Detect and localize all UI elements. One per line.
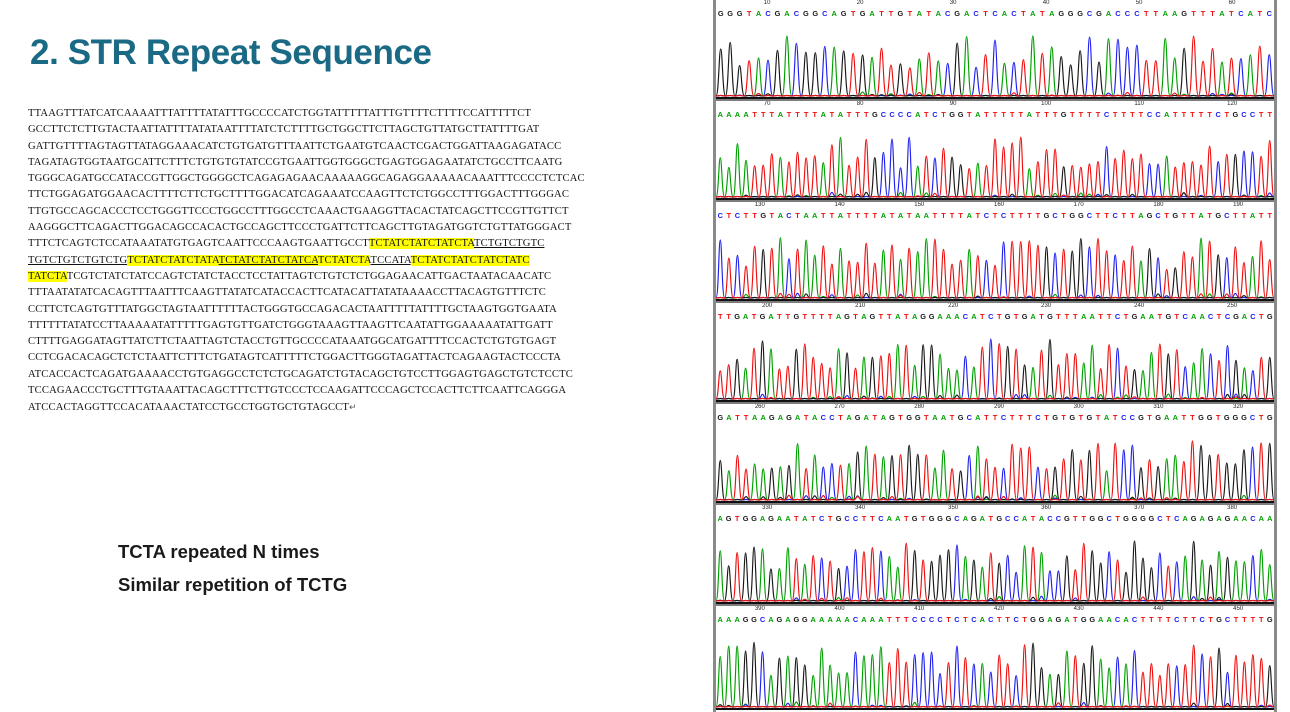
base-call: C: [1047, 514, 1052, 523]
chromatogram-base-calls: AGTGGAGAATATCTGCCTTCAATGTGGGCAGATGCCATAC…: [716, 514, 1274, 525]
trace-channel-A: [716, 646, 1274, 707]
base-call: T: [1031, 514, 1036, 523]
chromatogram-baseline-bar: [716, 198, 1274, 200]
chromatogram-trace: [716, 121, 1274, 200]
chromatogram-tick-strip: 708090100110120: [716, 101, 1274, 110]
base-call: T: [811, 312, 816, 321]
chromatogram-tick-strip: 390400410420430440450: [716, 606, 1274, 615]
base-call: T: [1259, 312, 1264, 321]
chromatogram-row-3: 130140150160170180190CTCTTGTACTAATTATTTT…: [716, 202, 1274, 303]
base-call: G: [1069, 413, 1075, 422]
base-call: A: [1140, 312, 1145, 321]
base-call: C: [1155, 211, 1160, 220]
base-call: T: [1044, 413, 1049, 422]
chromatogram-baseline-bar: [716, 501, 1274, 503]
base-call: T: [1122, 110, 1127, 119]
base-call: T: [862, 514, 867, 523]
sequence-line: CCTTCTCAGTGTTTATGGCTAGTAATTTTTTACTGGGTGC…: [28, 302, 648, 318]
tick-label: 210: [855, 303, 865, 309]
base-call: T: [761, 110, 766, 119]
base-call: T: [795, 110, 800, 119]
base-call: G: [1155, 413, 1161, 422]
base-call: C: [1121, 413, 1126, 422]
base-call: G: [1058, 9, 1064, 18]
base-call: G: [786, 413, 792, 422]
base-call: G: [1123, 514, 1129, 523]
base-call: G: [718, 9, 724, 18]
base-call: G: [751, 615, 757, 624]
sequence-line: TTAAGTTTATCATCAAAATTTATTTTATATTTGCCCCATC…: [28, 106, 648, 122]
base-call: T: [924, 110, 929, 119]
base-call: C: [912, 615, 917, 624]
base-call: C: [1238, 9, 1243, 18]
base-call: C: [1225, 312, 1230, 321]
tick-label: 410: [914, 606, 924, 612]
base-call: T: [1096, 110, 1101, 119]
base-call: T: [879, 312, 884, 321]
base-call: T: [1027, 413, 1032, 422]
base-call: A: [836, 312, 841, 321]
base-call: T: [735, 413, 740, 422]
sequence-highlight-segment: TCTATCTATCTATCTATC: [411, 255, 530, 266]
chromatogram-base-calls: TTGATGATTGTTTTAGTAGTTATAGGAAACATCTGTGATG…: [716, 312, 1274, 323]
base-call: C: [954, 514, 959, 523]
base-call: G: [1022, 312, 1028, 321]
base-call: T: [1107, 312, 1112, 321]
base-call: A: [1164, 413, 1169, 422]
base-call: T: [786, 312, 791, 321]
base-call: T: [1096, 211, 1101, 220]
base-call: T: [811, 514, 816, 523]
base-call: T: [1175, 312, 1180, 321]
base-call: A: [898, 211, 903, 220]
base-call: G: [1098, 514, 1104, 523]
base-call: A: [861, 615, 866, 624]
base-call: A: [1242, 312, 1247, 321]
sequence-segment: TCTGTCTGTC: [474, 238, 544, 249]
base-call: T: [787, 110, 792, 119]
base-call: G: [860, 9, 866, 18]
base-call: T: [1199, 110, 1204, 119]
base-call: A: [784, 9, 789, 18]
base-call: A: [912, 312, 917, 321]
base-call: C: [1087, 9, 1092, 18]
base-call: A: [878, 615, 883, 624]
base-call: T: [1147, 413, 1152, 422]
base-call: T: [1082, 514, 1087, 523]
base-call: G: [841, 9, 847, 18]
chromatogram-baseline-bar: [716, 602, 1274, 604]
base-call: T: [1242, 211, 1247, 220]
base-call: T: [794, 514, 799, 523]
base-call: C: [1035, 413, 1040, 422]
base-call: A: [1106, 615, 1111, 624]
base-call: T: [1079, 110, 1084, 119]
base-call: A: [778, 211, 783, 220]
base-call: T: [921, 514, 926, 523]
base-call: T: [747, 9, 752, 18]
base-call: T: [855, 211, 860, 220]
base-call: G: [1068, 9, 1074, 18]
base-call: G: [889, 413, 895, 422]
base-call: G: [775, 9, 781, 18]
trace-channel-C: [716, 646, 1274, 707]
base-call: G: [1138, 413, 1144, 422]
base-call: T: [864, 211, 869, 220]
trace-channel-T: [716, 543, 1274, 601]
sequence-line: TGTCTGTCTGTCTGTCTATCTATCTATATCTATCTATCTA…: [28, 253, 648, 269]
base-call: A: [1104, 413, 1109, 422]
tick-label: 60: [1229, 0, 1236, 6]
base-call: T: [770, 211, 775, 220]
base-call: G: [912, 514, 918, 523]
base-call: A: [1242, 514, 1247, 523]
base-call: A: [1138, 211, 1143, 220]
base-call: T: [989, 514, 994, 523]
base-call: A: [768, 312, 773, 321]
base-call: A: [734, 615, 739, 624]
base-call: G: [1052, 413, 1058, 422]
base-call: T: [1079, 413, 1084, 422]
base-call: G: [1132, 514, 1138, 523]
base-call: C: [1052, 211, 1057, 220]
base-call: A: [1047, 615, 1052, 624]
base-call: T: [864, 110, 869, 119]
base-call: A: [838, 211, 843, 220]
trace-channel-T: [716, 344, 1274, 399]
base-call: A: [735, 110, 740, 119]
caption-line-2: Similar repetition of TCTG: [118, 568, 347, 601]
base-call: G: [1147, 211, 1153, 220]
base-call: T: [830, 211, 835, 220]
base-call: G: [906, 413, 912, 422]
base-call: A: [1172, 9, 1177, 18]
base-call: C: [1104, 110, 1109, 119]
base-call: C: [1087, 211, 1092, 220]
base-call: T: [993, 211, 998, 220]
base-call: G: [1044, 211, 1050, 220]
base-call: C: [1199, 615, 1204, 624]
sequence-segment: TGGGCAGATGCCATACCGTTGGCTGGGGCTCAGAGAGAAC…: [28, 173, 585, 184]
base-call: T: [1073, 514, 1078, 523]
tick-label: 360: [1041, 505, 1051, 511]
trace-channel-T: [716, 645, 1274, 707]
base-call: A: [1030, 312, 1035, 321]
base-call: G: [1191, 514, 1197, 523]
base-call: C: [819, 514, 824, 523]
base-call: G: [971, 514, 977, 523]
base-call: A: [941, 413, 946, 422]
base-call: G: [777, 615, 783, 624]
base-call: T: [941, 211, 946, 220]
base-call: A: [869, 9, 874, 18]
sequence-segment: TTTCTCAGTCTCCATAAATATGTGAGTCAATTCCCAAGTG…: [28, 238, 369, 249]
base-call: T: [1182, 211, 1187, 220]
sequence-highlight-segment: TCTATCTA: [318, 255, 371, 266]
base-call: A: [1163, 9, 1168, 18]
base-call: A: [1219, 9, 1224, 18]
base-call: T: [1182, 110, 1187, 119]
sequence-segment: ATCCACTAGGTTCCACATAAACTATCCTGCCTGGTGCTGT…: [28, 402, 349, 413]
base-call: T: [1056, 312, 1061, 321]
tick-label: 270: [835, 404, 845, 410]
base-call: T: [1182, 413, 1187, 422]
trace-channel-T: [716, 238, 1274, 298]
trace-channel-C: [716, 339, 1274, 399]
base-call: T: [1130, 211, 1135, 220]
base-call: T: [1005, 615, 1010, 624]
base-call: A: [1022, 514, 1027, 523]
base-call: G: [803, 9, 809, 18]
sequence-line: TATCTATCGTCTATCTATCCAGTCTATCTACCTCCTATTA…: [28, 269, 648, 285]
base-call: A: [1027, 110, 1032, 119]
base-call: A: [777, 514, 782, 523]
sequence-highlight-segment: TCTATCTATCTATA: [127, 255, 218, 266]
base-call: G: [915, 413, 921, 422]
base-call: A: [915, 211, 920, 220]
base-call: G: [1165, 312, 1171, 321]
tick-label: 320: [1233, 404, 1243, 410]
base-call: T: [1018, 413, 1023, 422]
base-call: T: [1229, 9, 1234, 18]
base-call: A: [1049, 9, 1054, 18]
base-call: T: [1115, 514, 1120, 523]
base-call: C: [988, 312, 993, 321]
tick-label: 190: [1233, 202, 1243, 208]
base-call: T: [1210, 9, 1215, 18]
base-call: G: [1030, 615, 1036, 624]
base-call: T: [1191, 9, 1196, 18]
base-call: A: [812, 211, 817, 220]
base-call: T: [1130, 110, 1135, 119]
base-call: G: [812, 9, 818, 18]
tick-label: 180: [1153, 202, 1163, 208]
sequence-segment: TTTAATATATCACAGTTTAATTTCAAGTTATATCATACCA…: [28, 287, 546, 298]
base-call: C: [929, 615, 934, 624]
base-call: A: [821, 110, 826, 119]
base-call: A: [1250, 211, 1255, 220]
base-call: A: [964, 9, 969, 18]
base-call: G: [737, 9, 743, 18]
chromatogram-base-calls: GGGTACGACGGCAGTGATTGTATACGACTCACTATAGGGC…: [716, 9, 1274, 20]
base-call: T: [752, 211, 757, 220]
base-call: G: [929, 312, 935, 321]
base-call: G: [717, 413, 723, 422]
sequence-line: ATCACCACTCAGATGAAAACCTGTGAGGCCTCTCTGCAGA…: [28, 367, 648, 383]
base-call: C: [1113, 211, 1118, 220]
base-call: A: [803, 211, 808, 220]
chromatogram-row-1: 102030405060GGGTACGACGGCAGTGATTGTATACGAC…: [716, 0, 1274, 101]
base-call: T: [980, 312, 985, 321]
base-call: C: [1147, 110, 1152, 119]
base-call: A: [963, 514, 968, 523]
base-call: A: [1199, 514, 1204, 523]
trace-channel-C: [716, 545, 1274, 601]
base-call: T: [804, 413, 809, 422]
base-call: A: [1164, 110, 1169, 119]
base-call: G: [836, 514, 842, 523]
tick-label: 50: [1136, 0, 1143, 6]
sequence-segment: TTAAGTTTATCATCAAAATTTATTTTATATTTGCCCCATC…: [28, 108, 531, 119]
base-call: G: [1089, 514, 1095, 523]
base-call: T: [1061, 413, 1066, 422]
base-call: T: [946, 615, 951, 624]
base-call: C: [1001, 211, 1006, 220]
paragraph-return-mark: ↵: [349, 402, 357, 412]
base-call: C: [1130, 413, 1135, 422]
base-call: C: [881, 110, 886, 119]
base-call: G: [1225, 514, 1231, 523]
base-call: G: [920, 312, 926, 321]
base-call: G: [954, 9, 960, 18]
base-call: C: [794, 9, 799, 18]
chromatogram-baseline-bar: [716, 708, 1274, 710]
trace-channel-A: [716, 344, 1274, 399]
base-call: T: [1065, 312, 1070, 321]
base-call: T: [1183, 615, 1188, 624]
tick-label: 430: [1074, 606, 1084, 612]
base-call: T: [1044, 110, 1049, 119]
sequence-line: TTCTGGAGATGGAACACTTTTCTTCTGCTTTTGGACATCA…: [28, 187, 648, 203]
sequence-line: TGGGCAGATGCCATACCGTTGGCTGGGGCTCAGAGAGAAC…: [28, 171, 648, 187]
base-call: C: [1250, 312, 1255, 321]
base-call: A: [1267, 514, 1272, 523]
base-call: T: [1010, 413, 1015, 422]
base-call: T: [1190, 211, 1195, 220]
base-call: T: [904, 514, 909, 523]
base-call: A: [864, 413, 869, 422]
tick-label: 220: [948, 303, 958, 309]
base-call: A: [917, 9, 922, 18]
base-call: T: [1233, 211, 1238, 220]
base-call: A: [1106, 9, 1111, 18]
base-call: T: [1154, 9, 1159, 18]
chromatogram-base-calls: GATTAAGAGATACCTAGATAGTGGTAATGCATTCTTTCTG…: [716, 413, 1274, 424]
base-call: G: [872, 110, 878, 119]
base-call: A: [936, 9, 941, 18]
base-call: T: [1122, 211, 1127, 220]
base-call: G: [1208, 514, 1214, 523]
sequence-segment: TTGTGCCAGCACCCTCCTGGGTTCCCTGGCCTTTGGCCTC…: [28, 206, 569, 217]
base-call: T: [993, 413, 998, 422]
base-call: G: [1267, 413, 1273, 422]
base-call: A: [1039, 514, 1044, 523]
sequence-segment: CTTTTGAGGATAGTTATCTTCTAATTAGTCTACCTGTTGC…: [28, 336, 556, 347]
sequence-segment: TCCATA: [370, 255, 410, 266]
base-call: T: [727, 211, 732, 220]
base-call: T: [1001, 110, 1006, 119]
base-call: A: [975, 110, 980, 119]
tick-label: 80: [857, 101, 864, 107]
base-call: T: [1242, 615, 1247, 624]
base-call: A: [887, 514, 892, 523]
base-call: T: [958, 211, 963, 220]
sequence-line: CCTCGACACAGCTCTCTAATTCTTTCTGATAGTCATTTTT…: [28, 350, 648, 366]
chromatogram-tick-strip: 330340350360370380: [716, 505, 1274, 514]
base-call: C: [920, 615, 925, 624]
base-call: T: [828, 514, 833, 523]
sequence-segment: TGTCTGTCTGTCTG: [28, 255, 127, 266]
base-call: C: [760, 615, 765, 624]
chromatogram-tick-strip: 260270280290300310320: [716, 404, 1274, 413]
base-call: G: [946, 514, 952, 523]
chromatogram-panel: 102030405060GGGTACGACGGCAGTGATTGTATACGAC…: [713, 0, 1277, 712]
base-call: T: [1190, 413, 1195, 422]
base-call: G: [760, 211, 766, 220]
chromatogram-trace: [716, 424, 1274, 503]
base-call: T: [890, 211, 895, 220]
base-call: G: [1132, 312, 1138, 321]
base-call: A: [1259, 514, 1264, 523]
base-call: C: [1174, 615, 1179, 624]
trace-channel-T: [716, 137, 1274, 197]
base-call: C: [1013, 615, 1018, 624]
caption-block: TCTA repeated N timesSimilar repetition …: [118, 535, 347, 601]
tick-label: 30: [950, 0, 957, 6]
chromatogram-base-calls: CTCTTGTACTAATTATTTTATATAATTTTATCTCTTTTGC…: [716, 211, 1274, 222]
base-call: C: [1125, 9, 1130, 18]
base-call: T: [1158, 312, 1163, 321]
base-call: A: [778, 110, 783, 119]
base-call: T: [1113, 413, 1118, 422]
base-call: A: [895, 514, 900, 523]
base-call: C: [967, 413, 972, 422]
base-call: A: [846, 413, 851, 422]
base-call: G: [1081, 615, 1087, 624]
tick-label: 310: [1153, 404, 1163, 410]
base-call: C: [1250, 514, 1255, 523]
base-call: C: [963, 312, 968, 321]
base-call: T: [752, 110, 757, 119]
base-call: A: [1248, 9, 1253, 18]
tick-label: 110: [1134, 101, 1144, 107]
base-call: T: [1096, 413, 1101, 422]
base-call: G: [1064, 514, 1070, 523]
base-call: T: [1018, 110, 1023, 119]
base-call: A: [895, 312, 900, 321]
base-call: A: [718, 110, 723, 119]
base-call: T: [804, 110, 809, 119]
base-call: T: [735, 514, 740, 523]
base-call: C: [1216, 110, 1221, 119]
base-call: A: [743, 110, 748, 119]
sequence-line: TTTCTCAGTCTCCATAAATATGTGAGTCAATTCCCAAGTG…: [28, 236, 648, 252]
tick-label: 380: [1227, 505, 1237, 511]
base-call: T: [1141, 615, 1146, 624]
sequence-highlight-segment: TCTATCTATCTATCA: [219, 255, 318, 266]
base-call: G: [793, 312, 799, 321]
base-call: G: [1181, 9, 1187, 18]
base-call: T: [1259, 110, 1264, 119]
base-call: C: [822, 9, 827, 18]
base-call: A: [1173, 413, 1178, 422]
base-call: G: [898, 9, 904, 18]
base-call: A: [1098, 615, 1103, 624]
base-call: G: [734, 312, 740, 321]
base-call: T: [993, 110, 998, 119]
base-call: C: [1155, 110, 1160, 119]
base-call: C: [1106, 514, 1111, 523]
base-call: G: [996, 514, 1002, 523]
base-call: T: [984, 413, 989, 422]
base-call: A: [752, 413, 757, 422]
tick-label: 150: [914, 202, 924, 208]
base-call: G: [958, 413, 964, 422]
base-call: C: [954, 615, 959, 624]
base-call: G: [1198, 413, 1204, 422]
base-call: G: [743, 615, 749, 624]
base-call: T: [1073, 615, 1078, 624]
